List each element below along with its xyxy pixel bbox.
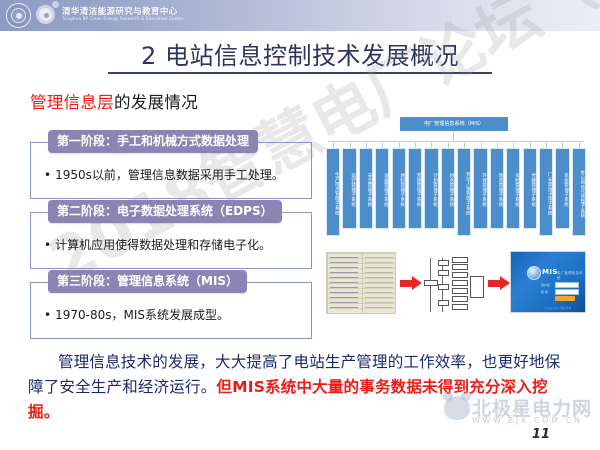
org-chart-connector [562,141,563,148]
university-seal-icon [6,3,31,28]
org-chart-connector [546,141,547,148]
org-chart-node-label: 党群管理子系统 [523,148,537,229]
arrow-head [500,276,510,290]
stage-bullet-text-2: 计算机应用使得数据处理和存储电子化。 [55,238,271,252]
slide-header-band: 清华清洁能源研究与教育中心 Tsinghua BP Clean Energy R… [0,0,600,31]
org-chart-node-label: 劳动人事管理子系统 [457,148,471,236]
org-chart-connector [464,141,465,148]
tree-node [452,257,468,263]
org-chart-node-10: 环保管理子系统 [473,141,487,229]
org-chart-connector [382,141,383,148]
org-chart-node-8: 财务管理子系统 [441,141,455,229]
org-chart-node-label: 环保管理子系统 [473,148,487,229]
org-chart-node-label: 计划管理子系统 [424,148,438,229]
org-chart-node-2: 运行管理子系统 [342,141,356,229]
bullet-icon: • [44,308,51,322]
org-chart-node-15: 系统管理子系统 [555,141,569,229]
system-structure-tree-diagram [422,250,484,318]
stage-title-1: 第一阶段：手工和机械方式数据处理 [48,130,258,153]
org-chart-connector [333,141,334,148]
subtitle-highlight: 管理信息层 [30,93,114,112]
org-chart-node-label: 系统管理子系统 [555,148,569,229]
org-name-en: Tsinghua BP Clean Energy Research & Educ… [62,16,184,21]
tree-node [452,304,468,310]
org-chart-connector [399,141,400,148]
stage-bullet-text-1: 1950s以前，管理信息数据采用手工处理。 [55,168,284,182]
org-chart-connector [513,141,514,148]
tree-node [452,280,468,286]
mis-brand-label: MIS [542,268,558,276]
stage-bullet-1: •1950s以前，管理信息数据采用手工处理。 [44,166,284,183]
org-chart-node-label: 燃料管理子系统 [392,148,406,229]
stage-bullet-text-3: 1970-80s，MIS系统发展成型。 [55,308,229,322]
org-chart-node-label: 营销管理子系统 [408,148,422,229]
mis-footer-text: Copyright 版权所有 [545,306,572,310]
org-chart-node-label: 多经管理子系统 [506,148,520,229]
org-chart-node-5: 燃料管理子系统 [392,141,406,229]
org-chart-connector [530,141,531,148]
mis-user-field[interactable] [555,282,579,288]
org-chart-node-1: 生产技术管理子系统 [326,141,340,229]
handwritten-ledger-photo [326,252,396,314]
page-title: 2 电站信息控制技术发展概况 [0,36,600,71]
mis-submit-button[interactable] [555,296,575,301]
evolution-strip: MIS 电厂管理信息系统 用户名 密 码 Copyright 版权所有 [322,248,590,320]
org-chart-node-6: 营销管理子系统 [408,141,422,229]
org-chart-root: 电厂管理信息系统（MIS） [400,117,508,131]
title-underline [108,72,492,74]
mis-pass-label: 密 码 [541,290,548,294]
org-chart: 电厂管理信息系统（MIS） 生产技术管理子系统运行管理子系统安全管理子系统设备管… [322,117,590,229]
org-chart-root-connector [453,131,454,141]
tree-node [452,272,468,278]
org-chart-node-12: 多经管理子系统 [506,141,520,229]
header-dot-icon [52,1,59,8]
org-chart-connector [579,141,580,148]
org-chart-node-label: 设备管理子系统 [375,148,389,229]
tree-node [452,296,468,302]
bullet-icon: • [44,238,51,252]
org-chart-node-label: 生产技术管理子系统 [326,148,340,236]
globe-icon [527,266,541,280]
org-chart-columns: 生产技术管理子系统运行管理子系统安全管理子系统设备管理子系统燃料管理子系统营销管… [326,141,586,229]
subtitle-rest: 的发展情况 [114,93,198,112]
org-chart-node-14: 厂长查询决策子系统 [539,141,553,229]
summary-paragraph: 管理信息技术的发展，大大提高了电站生产管理的工作效率，也更好地保障了安全生产和经… [28,350,576,425]
tree-root-node [424,280,438,286]
org-chart-node-label: 办公自动化管理子系统 [572,148,586,236]
org-chart-connector [366,141,367,148]
tree-node [452,264,468,270]
gear-icon [36,5,55,24]
org-chart-connector [481,141,482,148]
org-chart-connector [350,141,351,148]
org-chart-connector [415,141,416,148]
arrow-head [412,276,422,290]
org-chart-node-9: 劳动人事管理子系统 [457,141,471,229]
mis-login-screen-photo: MIS 电厂管理信息系统 用户名 密 码 Copyright 版权所有 [510,251,586,313]
org-chart-connector [431,141,432,148]
org-chart-node-label: 教育管理子系统 [490,148,504,229]
mis-pass-field[interactable] [555,289,579,295]
stage-title-3: 第三阶段：管理信息系统（MIS） [48,270,247,293]
tree-node [452,288,468,294]
tree-node [438,270,449,276]
org-chart-node-4: 设备管理子系统 [375,141,389,229]
slide-canvas: 清华清洁能源研究与教育中心 Tsinghua BP Clean Energy R… [0,0,600,450]
tree-node [438,300,449,306]
org-chart-node-13: 党群管理子系统 [523,141,537,229]
tree-node [438,284,449,290]
section-subtitle: 管理信息层的发展情况 [30,89,198,113]
bullet-icon: • [44,168,51,182]
org-chart-node-label: 运行管理子系统 [342,148,356,229]
org-chart-node-11: 教育管理子系统 [490,141,504,229]
stage-bullet-2: •计算机应用使得数据处理和存储电子化。 [44,236,271,253]
org-chart-node-3: 安全管理子系统 [359,141,373,229]
org-chart-node-label: 安全管理子系统 [359,148,373,229]
org-chart-connector [497,141,498,148]
tree-node-group [470,276,484,298]
mis-brand-sub-label: 电厂管理信息系统 [557,270,585,280]
stage-title-2: 第二阶段：电子数据处理系统（EDPS） [48,200,282,223]
red-right-arrow [400,276,422,290]
mis-user-label: 用户名 [541,283,550,287]
org-chart-node-label: 财务管理子系统 [441,148,455,229]
red-right-arrow [488,276,510,290]
page-number: 11 [532,427,550,442]
org-chart-node-label: 厂长查询决策子系统 [539,148,553,236]
org-chart-node-7: 计划管理子系统 [424,141,438,229]
stage-bullet-3: •1970-80s，MIS系统发展成型。 [44,306,229,323]
tree-node [438,260,449,266]
org-chart-node-16: 办公自动化管理子系统 [572,141,586,229]
org-chart-connector [448,141,449,148]
